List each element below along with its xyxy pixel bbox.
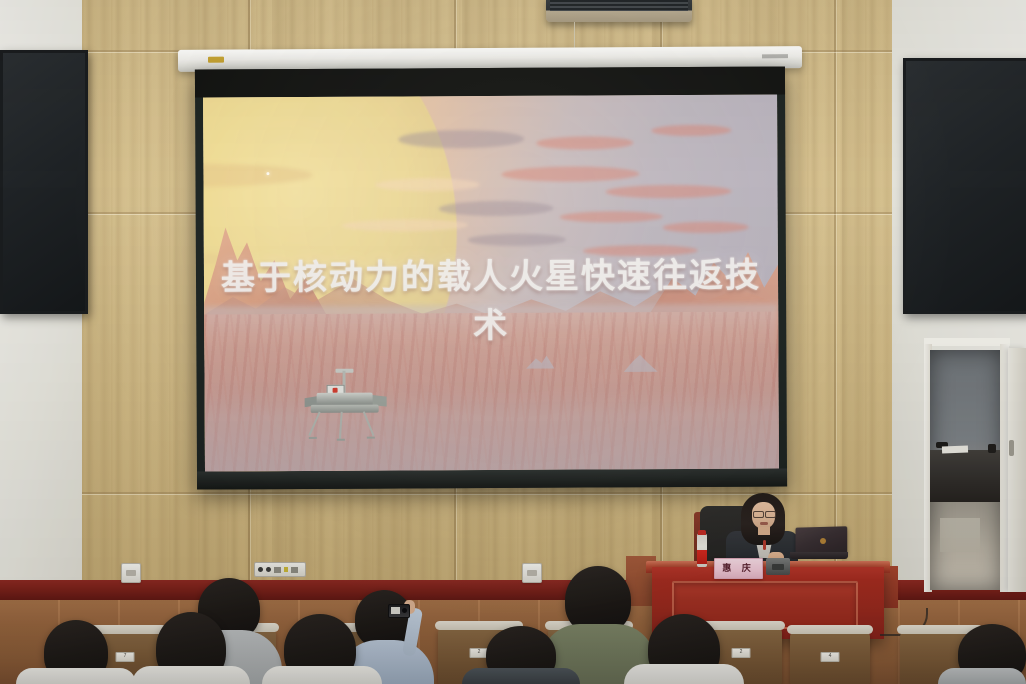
presenter-neck [758, 527, 770, 535]
mars-lander-icon [302, 371, 386, 441]
audience-shoulders-8 [624, 664, 744, 684]
ac-grill-icon [550, 0, 688, 11]
door-leaf[interactable] [1008, 348, 1026, 592]
housing-sticker [208, 57, 224, 63]
bottle-label [697, 550, 707, 564]
desk-object-2 [988, 444, 996, 453]
name-placard: 惠 庆 [714, 558, 763, 579]
glasses-lens-left-icon [753, 511, 764, 518]
audience-shoulders-9 [938, 668, 1026, 684]
laptop-lid [795, 526, 847, 555]
seat-back-7[interactable]: 4 [790, 630, 870, 684]
name-placard-text: 惠 庆 [722, 564, 755, 573]
slide-star [267, 172, 270, 175]
phone-icon[interactable] [388, 604, 410, 618]
adjacent-room-chair [940, 518, 980, 552]
glasses-lens-right-icon [765, 511, 776, 518]
projected-slide: 基于核动力的载人火星快速往返技术 [203, 94, 779, 471]
bottle-cap-icon [698, 530, 706, 535]
door-header [924, 338, 1010, 346]
seat-tag: 2 [732, 648, 751, 658]
projection-screen: 基于核动力的载人火星快速往返技术 [195, 66, 787, 489]
lapel-microphone-icon [763, 540, 766, 550]
laptop-base [790, 552, 848, 559]
planet-band-1 [203, 162, 313, 188]
screen-black-border-top [195, 66, 785, 97]
right-acoustic-panel [903, 58, 1026, 314]
wall-outlet-right[interactable] [522, 563, 542, 583]
seat-tag: 7 [116, 652, 135, 662]
audience-shoulders-2 [132, 666, 250, 684]
door-handle-icon[interactable] [1009, 440, 1014, 456]
wall-outlet-left[interactable] [121, 563, 141, 583]
air-conditioner-unit [546, 0, 692, 22]
laptop-logo-icon [820, 538, 826, 544]
open-doorway[interactable] [930, 350, 1002, 590]
housing-brand-mark [762, 54, 788, 58]
slide-foreground-haze [204, 334, 779, 472]
desk-papers [942, 446, 968, 454]
presenter-mouth [760, 522, 768, 525]
adjacent-room-desk [930, 450, 1002, 502]
audience-shoulders-1 [16, 668, 136, 684]
slide-title: 基于核动力的载人火星快速往返技术 [204, 248, 779, 349]
desk-microphone[interactable] [766, 558, 790, 575]
av-connection-plate[interactable] [254, 562, 306, 577]
lecture-hall-photo: 基于核动力的载人火星快速往返技术 [0, 0, 1026, 684]
audience-shoulders-5 [262, 666, 382, 684]
presenter-laptop[interactable] [790, 527, 848, 559]
seat-tag: 4 [821, 652, 840, 662]
screen-weight-bar [197, 468, 787, 489]
left-acoustic-panel [0, 50, 88, 314]
audience-shoulders-7 [462, 668, 580, 684]
